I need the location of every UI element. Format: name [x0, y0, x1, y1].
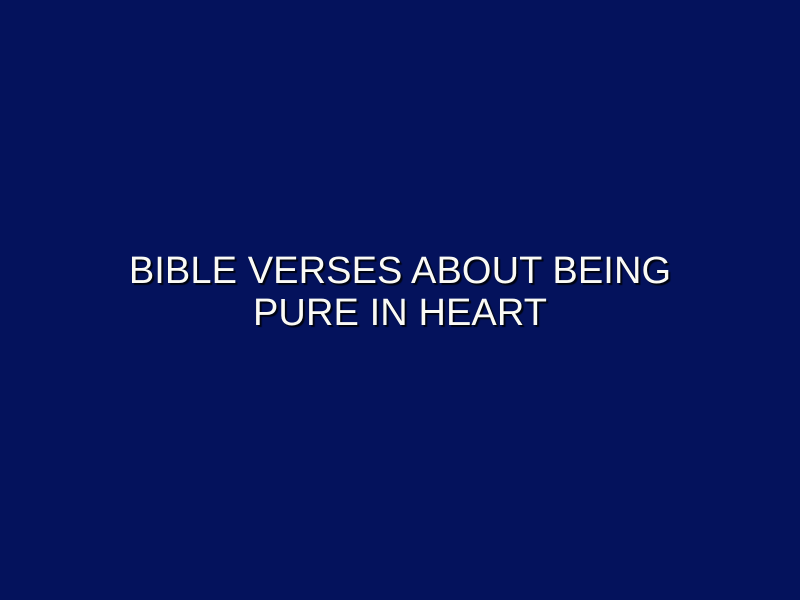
page-title: BIBLE VERSES ABOUT BEING PURE IN HEART [80, 250, 720, 334]
featured-image-card: BIBLE VERSES ABOUT BEING PURE IN HEART [0, 0, 800, 600]
